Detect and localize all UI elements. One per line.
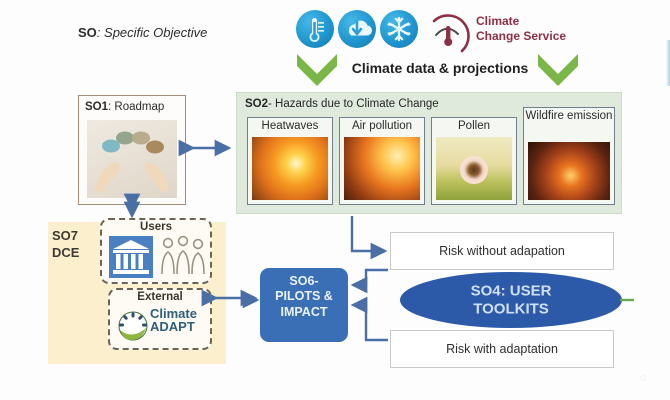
so2-title: SO2- Hazards due to Climate Change bbox=[245, 98, 439, 110]
external-title: External bbox=[110, 291, 210, 303]
diagram-canvas: Climate Change Service Climate data & pr… bbox=[0, 0, 670, 400]
hazard-label: Pollen bbox=[432, 120, 516, 132]
so7-sub: DCE bbox=[52, 245, 98, 262]
climate-adapt-logo-text: Climate ADAPT bbox=[150, 307, 197, 333]
hazard-card-air-pollution[interactable]: Air pollution bbox=[339, 117, 425, 205]
c3s-arc-thermometer-icon bbox=[424, 11, 472, 55]
so1-roadmap-box: SO1: Roadmap bbox=[78, 95, 186, 205]
so-legend-text: : Specific Objective bbox=[97, 25, 208, 40]
users-box[interactable]: Users bbox=[100, 218, 212, 284]
climate-adapt-line2: ADAPT bbox=[150, 320, 197, 333]
heatwave-photo bbox=[252, 137, 328, 200]
risk-with-label: Risk with adaptation bbox=[391, 342, 613, 356]
so4-user-toolkits-ellipse[interactable]: SO4: USER TOOLKITS bbox=[400, 272, 622, 328]
climate-data-caption: Climate data & projections bbox=[330, 60, 550, 76]
so7-code: SO7 bbox=[52, 228, 98, 245]
hands-stones-image bbox=[87, 120, 177, 198]
so1-title-text: : Roadmap bbox=[108, 101, 164, 113]
corner-artifact: ◌ bbox=[640, 372, 654, 384]
hazard-card-heatwaves[interactable]: Heatwaves bbox=[247, 117, 333, 205]
hazard-label: Heatwaves bbox=[248, 120, 332, 132]
wildfire-photo bbox=[528, 142, 610, 200]
climate-adapt-logo: Climate ADAPT bbox=[118, 307, 204, 345]
external-box[interactable]: External Climate ADAPT bbox=[108, 288, 212, 350]
so1-title: SO1: Roadmap bbox=[85, 101, 164, 113]
so6-text: SO6- PILOTS & IMPACT bbox=[262, 274, 346, 320]
climate-adapt-mark-icon bbox=[118, 311, 148, 341]
right-edge-artifact bbox=[666, 40, 670, 86]
so7-label: SO7 DCE bbox=[52, 228, 98, 262]
users-title: Users bbox=[102, 221, 210, 233]
institution-bank-icon bbox=[108, 235, 154, 279]
so4-text: SO4: USER TOOLKITS bbox=[400, 282, 622, 317]
climate-change-service-logo: Climate Change Service bbox=[424, 8, 584, 58]
so6-line1: SO6- bbox=[262, 274, 346, 289]
risk-without-label: Risk without adapation bbox=[391, 244, 613, 258]
pollen-photo bbox=[436, 137, 512, 200]
hazard-card-wildfire-emission[interactable]: Wildfire emission bbox=[523, 107, 615, 205]
so2-code: SO2 bbox=[245, 98, 268, 110]
people-group-icon bbox=[158, 234, 208, 280]
hazard-card-pollen[interactable]: Pollen bbox=[431, 117, 517, 205]
so6-pilots-impact-box[interactable]: SO6- PILOTS & IMPACT bbox=[260, 268, 348, 342]
cloud-rain-icon bbox=[338, 10, 376, 48]
so1-code: SO1 bbox=[85, 101, 108, 113]
so2-hazards-panel: SO2- Hazards due to Climate Change Heatw… bbox=[236, 92, 622, 214]
risk-with-adaptation-box[interactable]: Risk with adaptation bbox=[390, 330, 614, 368]
c3s-logo-line2: Change Service bbox=[476, 29, 566, 43]
hazard-label: Air pollution bbox=[340, 120, 424, 132]
c3s-logo-text: Climate Change Service bbox=[476, 14, 566, 44]
hazard-label: Wildfire emission bbox=[524, 110, 614, 123]
so-legend: SO: Specific Objective bbox=[78, 25, 218, 41]
so6-line3: IMPACT bbox=[262, 305, 346, 320]
risk-without-adaptation-box[interactable]: Risk without adapation bbox=[390, 232, 614, 270]
so6-line2: PILOTS & bbox=[262, 289, 346, 304]
so4-line2: TOOLKITS bbox=[400, 300, 622, 318]
so-legend-prefix: SO bbox=[78, 25, 97, 40]
so2-title-text: - Hazards due to Climate Change bbox=[268, 98, 439, 110]
so4-line1: SO4: USER bbox=[400, 282, 622, 300]
c3s-logo-line1: Climate bbox=[476, 14, 519, 28]
air-pollution-photo bbox=[344, 137, 420, 200]
thermometer-icon bbox=[296, 10, 334, 48]
snowflake-icon bbox=[380, 10, 418, 48]
